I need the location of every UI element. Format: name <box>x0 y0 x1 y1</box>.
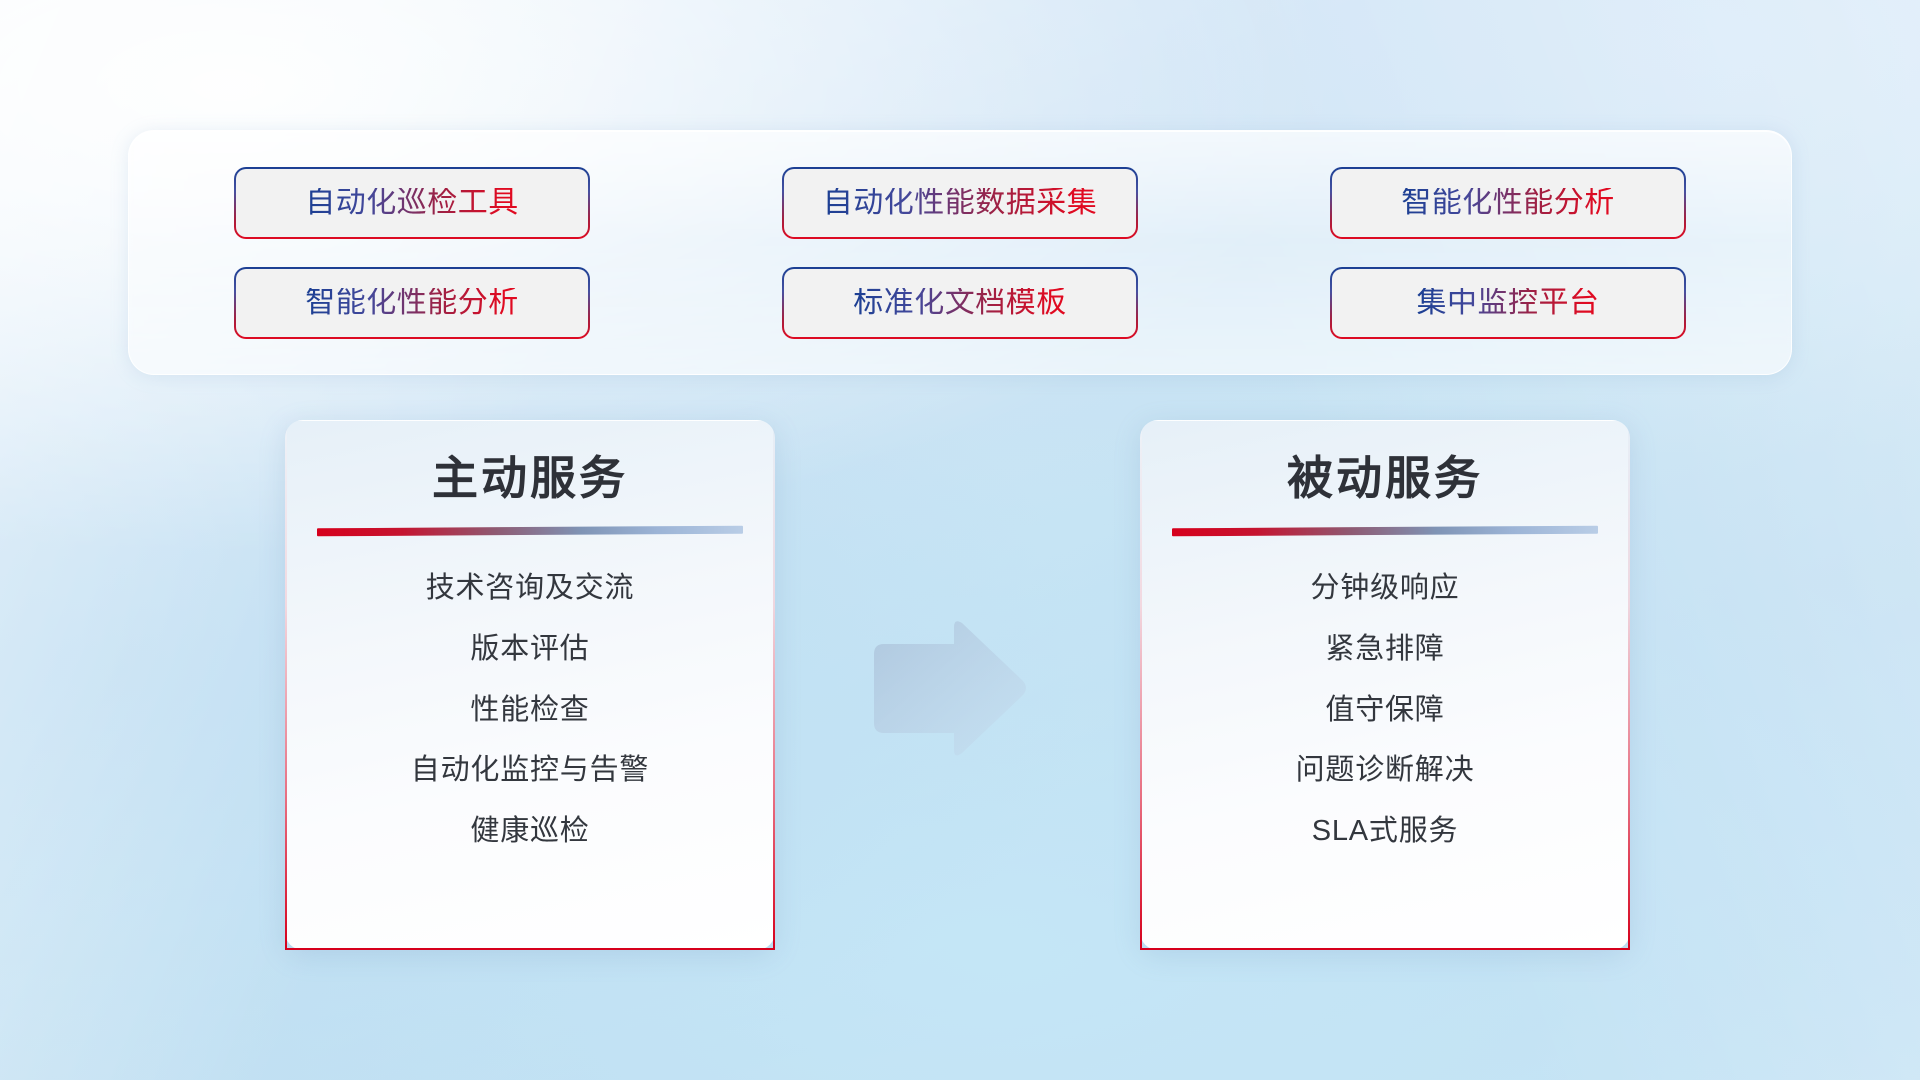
capability-row-1: 自动化巡检工具 自动化性能数据采集 智能化性能分析 <box>129 167 1791 239</box>
service-card-active: 主动服务 技术咨询及交流 版本评估 性能检查 自动化监控与告警 健康巡检 <box>285 420 775 950</box>
capability-pill-label: 智能化性能分析 <box>1401 188 1615 218</box>
service-card-active-content: 主动服务 技术咨询及交流 版本评估 性能检查 自动化监控与告警 健康巡检 <box>287 421 773 948</box>
list-item: 版本评估 <box>470 632 589 667</box>
service-card-passive-content: 被动服务 分钟级响应 紧急排障 值守保障 问题诊断解决 SLA式服务 <box>1142 421 1628 948</box>
capability-pill-label: 自动化巡检工具 <box>305 188 519 218</box>
list-item: 自动化监控与告警 <box>411 753 649 788</box>
service-card-passive-list: 分钟级响应 紧急排障 值守保障 问题诊断解决 SLA式服务 <box>1142 571 1628 849</box>
list-item: 健康巡检 <box>470 814 589 849</box>
service-card-active-title: 主动服务 <box>432 455 628 501</box>
capability-pill-label: 集中监控平台 <box>1417 288 1600 318</box>
list-item: 问题诊断解决 <box>1296 753 1475 788</box>
capability-pill-auto-perf-data-collection[interactable]: 自动化性能数据采集 <box>782 167 1138 239</box>
service-card-passive-divider <box>1172 526 1598 537</box>
capability-pill-label: 自动化性能数据采集 <box>823 188 1098 218</box>
list-item: 技术咨询及交流 <box>426 571 635 606</box>
service-card-active-list: 技术咨询及交流 版本评估 性能检查 自动化监控与告警 健康巡检 <box>287 571 773 849</box>
capability-pill-label: 标准化文档模板 <box>853 288 1067 318</box>
capability-panel: 自动化巡检工具 自动化性能数据采集 智能化性能分析 智能化性能分析 标准化文档模… <box>128 130 1792 375</box>
list-item: 性能检查 <box>470 693 589 728</box>
service-card-active-divider <box>317 526 743 537</box>
capability-pill-standard-doc-template[interactable]: 标准化文档模板 <box>782 267 1138 339</box>
list-item: 紧急排障 <box>1325 632 1444 667</box>
list-item: 值守保障 <box>1325 693 1444 728</box>
capability-row-2: 智能化性能分析 标准化文档模板 集中监控平台 <box>129 267 1791 339</box>
capability-pill-auto-inspection-tool[interactable]: 自动化巡检工具 <box>234 167 590 239</box>
list-item: 分钟级响应 <box>1310 571 1459 606</box>
list-item: SLA式服务 <box>1312 814 1459 849</box>
service-card-passive-title: 被动服务 <box>1287 455 1483 501</box>
capability-pill-central-monitoring-platform[interactable]: 集中监控平台 <box>1330 267 1686 339</box>
service-card-passive: 被动服务 分钟级响应 紧急排障 值守保障 问题诊断解决 SLA式服务 <box>1140 420 1630 950</box>
capability-pill-label: 智能化性能分析 <box>305 288 519 318</box>
capability-pill-intelligent-perf-analysis[interactable]: 智能化性能分析 <box>1330 167 1686 239</box>
capability-pill-intelligent-perf-analysis-2[interactable]: 智能化性能分析 <box>234 267 590 339</box>
arrow-right-icon <box>862 618 1030 760</box>
